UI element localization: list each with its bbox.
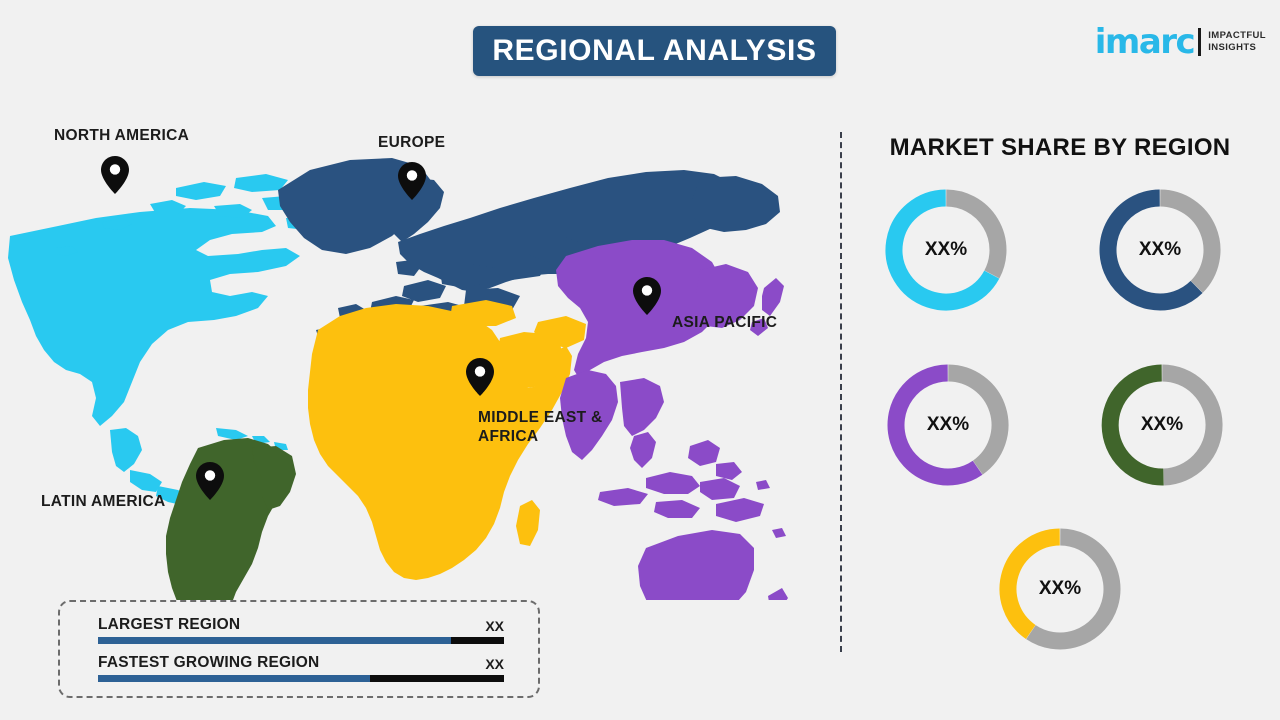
world-map-svg: [0, 130, 820, 600]
donut-ring: [1098, 188, 1222, 312]
fastest-growing-region-row: FASTEST GROWING REGION XX: [98, 654, 504, 682]
logo-divider-icon: [1198, 28, 1201, 56]
world-map: [0, 130, 820, 600]
donut-chart-north-america: XX%: [884, 188, 1008, 312]
logo-wordmark: imarc: [1095, 25, 1194, 59]
logo-tagline-line2: INSIGHTS: [1208, 42, 1266, 54]
donut-remainder-segment: [948, 373, 1000, 468]
map-label-europe: EUROPE: [378, 133, 445, 152]
map-pin-asia-pacific-icon: [633, 277, 661, 315]
map-label-asia-pacific: ASIA PACIFIC: [672, 313, 777, 332]
donut-chart-europe: XX%: [1098, 188, 1222, 312]
logo-tagline: IMPACTFUL INSIGHTS: [1208, 30, 1266, 54]
map-region-latin-america: [166, 438, 296, 600]
imarc-logo: imarc IMPACTFUL INSIGHTS: [1095, 22, 1266, 62]
donut-remainder-segment: [1162, 373, 1214, 477]
donut-remainder-segment: [946, 198, 998, 274]
map-pin-europe-icon: [398, 162, 426, 200]
page-title: REGIONAL ANALYSIS: [492, 34, 816, 68]
page-title-banner: REGIONAL ANALYSIS: [473, 26, 836, 76]
region-summary-box: LARGEST REGION XX FASTEST GROWING REGION…: [58, 600, 540, 698]
fastest-growing-region-bar-track: [98, 675, 504, 682]
donut-remainder-segment: [1031, 537, 1112, 641]
donut-chart-middle-east-africa: XX%: [998, 527, 1122, 651]
logo-tagline-line1: IMPACTFUL: [1208, 30, 1266, 42]
map-label-north-america: NORTH AMERICA: [54, 126, 189, 145]
map-label-latin-america: LATIN AMERICA: [41, 492, 165, 511]
largest-region-label: LARGEST REGION: [98, 616, 240, 634]
donut-value-segment: [1108, 198, 1197, 302]
largest-region-row: LARGEST REGION XX: [98, 616, 504, 644]
donut-value-segment: [1008, 537, 1060, 632]
map-pin-latin-america-icon: [196, 462, 224, 500]
donut-value-segment: [1110, 373, 1163, 477]
largest-region-bar-track: [98, 637, 504, 644]
market-share-panel-title: MARKET SHARE BY REGION: [840, 134, 1280, 162]
donut-value-segment: [896, 373, 978, 477]
vertical-divider: [840, 132, 842, 652]
largest-region-value: XX: [485, 618, 504, 634]
largest-region-bar-fill: [98, 637, 451, 644]
donut-ring: [886, 363, 1010, 487]
infographic-canvas: REGIONAL ANALYSIS imarc IMPACTFUL INSIGH…: [0, 0, 1280, 720]
donut-ring: [998, 527, 1122, 651]
map-label-middle-east-africa: MIDDLE EAST & AFRICA: [478, 408, 602, 447]
donut-ring: [1100, 363, 1224, 487]
map-pin-middle-east-africa-icon: [466, 358, 494, 396]
donut-chart-asia-pacific: XX%: [886, 363, 1010, 487]
map-pin-north-america-icon: [101, 156, 129, 194]
fastest-growing-region-bar-fill: [98, 675, 370, 682]
fastest-growing-region-value: XX: [485, 656, 504, 672]
donut-chart-latin-america: XX%: [1100, 363, 1224, 487]
donut-ring: [884, 188, 1008, 312]
donut-remainder-segment: [1160, 198, 1212, 287]
fastest-growing-region-label: FASTEST GROWING REGION: [98, 654, 319, 672]
